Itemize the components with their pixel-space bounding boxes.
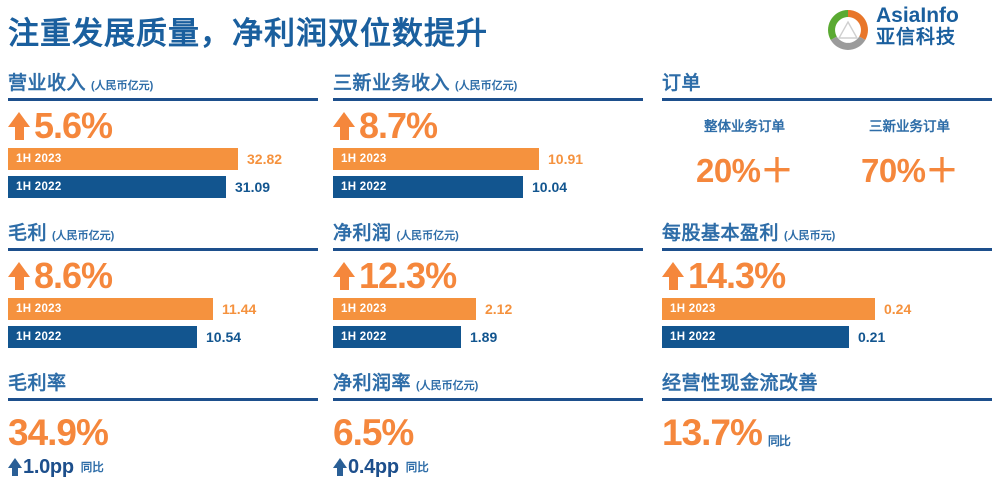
arrow-up-icon <box>333 262 355 290</box>
arrow-up-icon <box>333 458 347 476</box>
metric-card-gross-margin: 毛利率 34.9% 1.0pp 同比 <box>8 368 318 493</box>
bar-row: 1H 2022 0.21 <box>662 326 992 348</box>
card-header: 毛利率 <box>8 368 318 401</box>
bar-chart: 1H 2023 2.12 1H 2022 1.89 <box>333 298 643 348</box>
asiainfo-ring-icon <box>824 6 872 54</box>
card-title: 毛利率 <box>8 368 67 395</box>
metric-card-orders: 订单 整体业务订单 20%＋ 三新业务订单 70%＋ <box>662 68 992 208</box>
growth-row: 14.3% <box>662 255 992 297</box>
card-header: 订单 <box>662 68 992 101</box>
card-header: 营业收入 (人民币亿元) <box>8 68 318 101</box>
growth-row: 8.7% <box>333 105 643 147</box>
order-value: 70%＋ <box>827 144 992 192</box>
metric-card-net-profit: 净利润 (人民币亿元) 12.3% 1H 2023 2.12 1H 2022 <box>333 218 643 358</box>
growth-row: 12.3% <box>333 255 643 297</box>
ratio-value-row: 13.7% 同比 <box>662 413 992 461</box>
order-value: 20%＋ <box>662 144 827 192</box>
bar-2022: 1H 2022 <box>8 326 197 348</box>
card-title: 三新业务收入 <box>333 68 450 95</box>
metric-card-revenue: 营业收入 (人民币亿元) 5.6% 1H 2023 32.82 1H 2022 <box>8 68 318 208</box>
arrow-up-icon <box>8 458 22 476</box>
bar-value: 0.21 <box>858 329 885 345</box>
order-label: 三新业务订单 <box>827 115 992 135</box>
bar-label: 1H 2023 <box>341 153 387 165</box>
bar-value: 10.91 <box>548 151 583 167</box>
bar-2023: 1H 2023 <box>8 148 238 170</box>
logo-wordmark: AsiaInfo <box>876 5 992 27</box>
bar-value: 32.82 <box>247 151 282 167</box>
bar-row: 1H 2023 32.82 <box>8 148 318 170</box>
bar-row: 1H 2023 0.24 <box>662 298 992 320</box>
card-title: 净利润 <box>333 218 392 245</box>
arrow-up-icon <box>8 112 30 140</box>
metric-card-basic-eps: 每股基本盈利 (人民币元) 14.3% 1H 2023 0.24 1H 2022 <box>662 218 992 358</box>
metric-card-operating-cash-flow: 经营性现金流改善 13.7% 同比 <box>662 368 992 493</box>
bar-2023: 1H 2023 <box>333 298 476 320</box>
card-unit: (人民币亿元) <box>52 227 114 243</box>
bar-value: 31.09 <box>235 179 270 195</box>
delta-note: 同比 <box>81 459 104 475</box>
ratio-value-row: 34.9% <box>8 413 318 453</box>
bar-label: 1H 2022 <box>341 331 387 343</box>
asiainfo-logo-text: AsiaInfo 亚信科技 <box>876 5 992 55</box>
bar-2022: 1H 2022 <box>8 176 226 198</box>
bar-label: 1H 2022 <box>341 181 387 193</box>
bar-value: 0.24 <box>884 301 911 317</box>
bar-row: 1H 2022 10.04 <box>333 176 643 198</box>
slide-header: 注重发展质量，净利润双位数提升 AsiaInfo 亚信科技 <box>0 0 1000 62</box>
growth-row: 5.6% <box>8 105 318 147</box>
card-unit: (人民币亿元) <box>91 77 153 93</box>
metric-card-three-new-business-revenue: 三新业务收入 (人民币亿元) 8.7% 1H 2023 10.91 1H 202… <box>333 68 643 208</box>
bar-label: 1H 2023 <box>670 303 716 315</box>
ratio-value: 6.5% <box>333 413 413 453</box>
bar-row: 1H 2023 2.12 <box>333 298 643 320</box>
ratio-value-row: 6.5% <box>333 413 643 453</box>
order-label: 整体业务订单 <box>662 115 827 135</box>
logo-chinese-name: 亚信科技 <box>876 27 992 49</box>
bar-label: 1H 2023 <box>16 153 62 165</box>
bar-label: 1H 2023 <box>16 303 62 315</box>
arrow-up-icon <box>8 262 30 290</box>
delta-value: 1.0pp <box>23 456 74 479</box>
bar-2023: 1H 2023 <box>662 298 875 320</box>
card-title: 毛利 <box>8 218 47 245</box>
card-header: 三新业务收入 (人民币亿元) <box>333 68 643 101</box>
growth-value: 8.7% <box>359 106 437 146</box>
bar-row: 1H 2023 11.44 <box>8 298 318 320</box>
page-title: 注重发展质量，净利润双位数提升 <box>8 8 488 53</box>
bar-value: 10.54 <box>206 329 241 345</box>
bar-label: 1H 2022 <box>16 181 62 193</box>
slide-root: 注重发展质量，净利润双位数提升 AsiaInfo 亚信科技 营业收入 (人民币 <box>0 0 1000 493</box>
bar-chart: 1H 2023 0.24 1H 2022 0.21 <box>662 298 992 348</box>
bar-row: 1H 2023 10.91 <box>333 148 643 170</box>
metric-card-net-margin: 净利润率 (人民币亿元) 6.5% 0.4pp 同比 <box>333 368 643 493</box>
ratio-delta-row: 1.0pp 同比 <box>8 455 318 479</box>
card-title: 营业收入 <box>8 68 86 95</box>
growth-value: 8.6% <box>34 256 112 296</box>
card-unit: (人民币元) <box>784 227 835 243</box>
card-title: 订单 <box>662 68 701 95</box>
asiainfo-logo: AsiaInfo 亚信科技 <box>824 5 992 57</box>
card-header: 经营性现金流改善 <box>662 368 992 401</box>
card-title: 经营性现金流改善 <box>662 368 818 395</box>
bar-chart: 1H 2023 11.44 1H 2022 10.54 <box>8 298 318 348</box>
bar-label: 1H 2022 <box>670 331 716 343</box>
card-header: 毛利 (人民币亿元) <box>8 218 318 251</box>
growth-value: 14.3% <box>688 256 785 296</box>
ratio-value: 13.7% <box>662 413 762 453</box>
bar-2023: 1H 2023 <box>8 298 213 320</box>
order-metric-three-new: 三新业务订单 70%＋ <box>827 115 992 192</box>
card-header: 每股基本盈利 (人民币元) <box>662 218 992 251</box>
delta-note: 同比 <box>406 459 429 475</box>
bar-row: 1H 2022 1.89 <box>333 326 643 348</box>
ratio-delta-row: 0.4pp 同比 <box>333 455 643 479</box>
bar-row: 1H 2022 31.09 <box>8 176 318 198</box>
bar-value: 2.12 <box>485 301 512 317</box>
bar-chart: 1H 2023 10.91 1H 2022 10.04 <box>333 148 643 198</box>
arrow-up-icon <box>662 262 684 290</box>
bar-row: 1H 2022 10.54 <box>8 326 318 348</box>
ratio-value: 34.9% <box>8 413 108 453</box>
arrow-up-icon <box>333 112 355 140</box>
card-header: 净利润 (人民币亿元) <box>333 218 643 251</box>
metric-card-gross-profit: 毛利 (人民币亿元) 8.6% 1H 2023 11.44 1H 2022 <box>8 218 318 358</box>
bar-label: 1H 2023 <box>341 303 387 315</box>
growth-value: 5.6% <box>34 106 112 146</box>
bar-2022: 1H 2022 <box>333 326 461 348</box>
card-unit: (人民币亿元) <box>455 77 517 93</box>
delta-value: 0.4pp <box>348 456 399 479</box>
card-unit: (人民币亿元) <box>416 377 478 393</box>
orders-body: 整体业务订单 20%＋ 三新业务订单 70%＋ <box>662 115 992 192</box>
card-unit: (人民币亿元) <box>397 227 459 243</box>
card-title: 每股基本盈利 <box>662 218 779 245</box>
bar-2022: 1H 2022 <box>333 176 523 198</box>
metrics-grid: 营业收入 (人民币亿元) 5.6% 1H 2023 32.82 1H 2022 <box>0 62 1000 493</box>
bar-2022: 1H 2022 <box>662 326 849 348</box>
bar-value: 11.44 <box>222 301 256 317</box>
growth-row: 8.6% <box>8 255 318 297</box>
ratio-suffix: 同比 <box>768 421 790 461</box>
bar-label: 1H 2022 <box>16 331 62 343</box>
order-metric-overall: 整体业务订单 20%＋ <box>662 115 827 192</box>
bar-value: 1.89 <box>470 329 497 345</box>
card-title: 净利润率 <box>333 368 411 395</box>
bar-2023: 1H 2023 <box>333 148 539 170</box>
card-header: 净利润率 (人民币亿元) <box>333 368 643 401</box>
bar-value: 10.04 <box>532 179 567 195</box>
bar-chart: 1H 2023 32.82 1H 2022 31.09 <box>8 148 318 198</box>
growth-value: 12.3% <box>359 256 456 296</box>
